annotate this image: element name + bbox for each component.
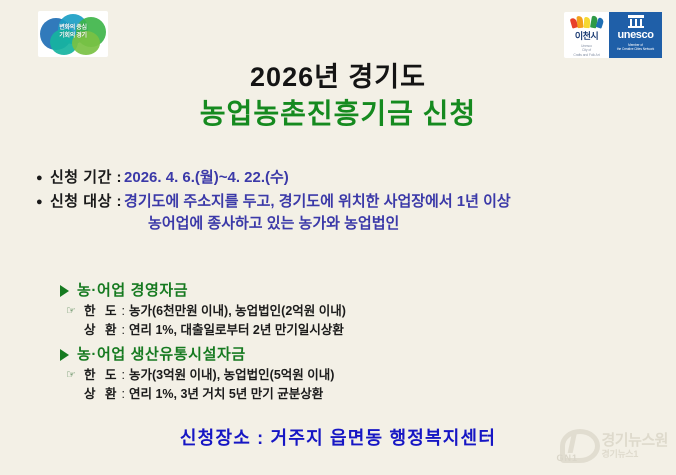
- gyeonggi-province-logo: 변화의 중심 기회의 경기: [38, 11, 108, 57]
- fund-repayment-separator: :: [121, 321, 124, 340]
- pointing-hand-icon: ☞: [66, 302, 84, 321]
- icheon-subtitle: Unesco City of Crafts and Folk Art: [564, 44, 609, 57]
- fund-heading-management: 농·어업 경영자금: [60, 280, 662, 302]
- unesco-creative-cities-logo: unesco Member of the Creative Cities Net…: [609, 12, 662, 58]
- bullet-dot-icon: ●: [36, 191, 50, 213]
- unesco-subtitle: Member of the Creative Cities Network: [609, 43, 662, 51]
- fund-repayment-value: 연리 1%, 3년 거치 5년 만기 균분상환: [129, 385, 323, 404]
- gn1-logo-icon: GN1: [556, 429, 598, 463]
- icheon-sub-line3: Crafts and Folk Art: [564, 53, 609, 57]
- fund-limit-row-production: ☞ 한 도 : 농가(3억원 이내), 농업법인(5억원 이내): [60, 366, 662, 385]
- eligibility-value-line1: 경기도에 주소지를 두고, 경기도에 위치한 사업장에서 1년 이상: [124, 193, 511, 210]
- title-line-year-province: 2026년 경기도: [0, 60, 676, 94]
- icheon-city-logo: 이천시 Unesco City of Crafts and Folk Art: [564, 12, 609, 58]
- info-row-application-period: ● 신청 기간 : 2026. 4. 6.(월)~4. 22.(수): [36, 167, 664, 189]
- bullet-dot-icon: ●: [36, 167, 50, 189]
- watermark-text: 경기뉴스원 경기뉴스1: [601, 433, 668, 460]
- gyeonggi-logo-slogan: 변화의 중심 기회의 경기: [38, 24, 108, 40]
- info-row-eligibility: ● 신청 대상 : 경기도에 주소지를 두고, 경기도에 위치한 사업장에서 1…: [36, 191, 664, 235]
- fund-repayment-value: 연리 1%, 대출일로부터 2년 만기일시상환: [129, 321, 344, 340]
- watermark-line2: 경기뉴스1: [601, 449, 668, 460]
- gn1-wordmark: GN1: [556, 453, 578, 463]
- poster-canvas: 변화의 중심 기회의 경기 이천시 Unesco City of Crafts …: [0, 0, 676, 475]
- eligibility-label: 신청 대상 :: [50, 191, 122, 213]
- fund-limit-value: 농가(3억원 이내), 농업법인(5억원 이내): [129, 366, 334, 385]
- gyeonggi-slogan-line2: 기회의 경기: [38, 32, 108, 40]
- fund-sections: 농·어업 경영자금 ☞ 한 도 : 농가(6천만원 이내), 농업법인(2억원 …: [60, 276, 662, 404]
- fund-limit-separator: :: [121, 366, 124, 385]
- eligibility-value: 경기도에 주소지를 두고, 경기도에 위치한 사업장에서 1년 이상 농어업에 …: [124, 191, 511, 235]
- fund-repayment-row-production: ☞ 상 환 : 연리 1%, 3년 거치 5년 만기 균분상환: [60, 385, 662, 404]
- fund-repayment-separator: :: [121, 385, 124, 404]
- row-indent-spacer: ☞: [66, 321, 84, 340]
- fund-limit-row-management: ☞ 한 도 : 농가(6천만원 이내), 농업법인(2억원 이내): [60, 302, 662, 321]
- triangle-bullet-icon: [60, 349, 69, 361]
- fund-heading-production-distribution-label: 농·어업 생산유통시설자금: [77, 344, 246, 366]
- eligibility-value-line2: 농어업에 종사하고 있는 농가와 농업법인: [124, 213, 511, 235]
- row-indent-spacer: ☞: [66, 385, 84, 404]
- application-period-value: 2026. 4. 6.(월)~4. 22.(수): [124, 167, 289, 189]
- application-period-label: 신청 기간 :: [50, 167, 122, 189]
- fund-limit-value: 농가(6천만원 이내), 농업법인(2억원 이내): [129, 302, 346, 321]
- title-line-fund-application: 농업농촌진흥기금 신청: [0, 96, 676, 132]
- icheon-unesco-logo-group: 이천시 Unesco City of Crafts and Folk Art u…: [564, 12, 662, 58]
- fund-repayment-row-management: ☞ 상 환 : 연리 1%, 대출일로부터 2년 만기일시상환: [60, 321, 662, 340]
- fund-heading-production-distribution: 농·어업 생산유통시설자금: [60, 344, 662, 366]
- fund-section-production-distribution: 농·어업 생산유통시설자금 ☞ 한 도 : 농가(3억원 이내), 농업법인(5…: [60, 344, 662, 404]
- fund-repayment-label: 상 환: [84, 385, 119, 404]
- pointing-hand-icon: ☞: [66, 366, 84, 385]
- unesco-sub-line2: the Creative Cities Network: [609, 47, 662, 51]
- fund-section-management: 농·어업 경영자금 ☞ 한 도 : 농가(6천만원 이내), 농업법인(2억원 …: [60, 280, 662, 340]
- poster-title: 2026년 경기도 농업농촌진흥기금 신청: [0, 60, 676, 132]
- fund-heading-management-label: 농·어업 경영자금: [77, 280, 188, 302]
- icheon-brush-strokes-icon: [569, 15, 604, 28]
- gyeonggi-slogan-line1: 변화의 중심: [38, 24, 108, 32]
- unesco-temple-icon: [628, 15, 644, 28]
- fund-limit-label: 한 도: [84, 366, 119, 385]
- watermark-line1: 경기뉴스원: [601, 433, 668, 449]
- news-watermark: GN1 경기뉴스원 경기뉴스1: [556, 429, 668, 463]
- fund-repayment-label: 상 환: [84, 321, 119, 340]
- fund-limit-separator: :: [121, 302, 124, 321]
- fund-limit-label: 한 도: [84, 302, 119, 321]
- unesco-wordmark: unesco: [609, 29, 662, 41]
- triangle-bullet-icon: [60, 285, 69, 297]
- icheon-city-name: 이천시: [564, 29, 609, 42]
- application-info-list: ● 신청 기간 : 2026. 4. 6.(월)~4. 22.(수) ● 신청 …: [36, 167, 664, 237]
